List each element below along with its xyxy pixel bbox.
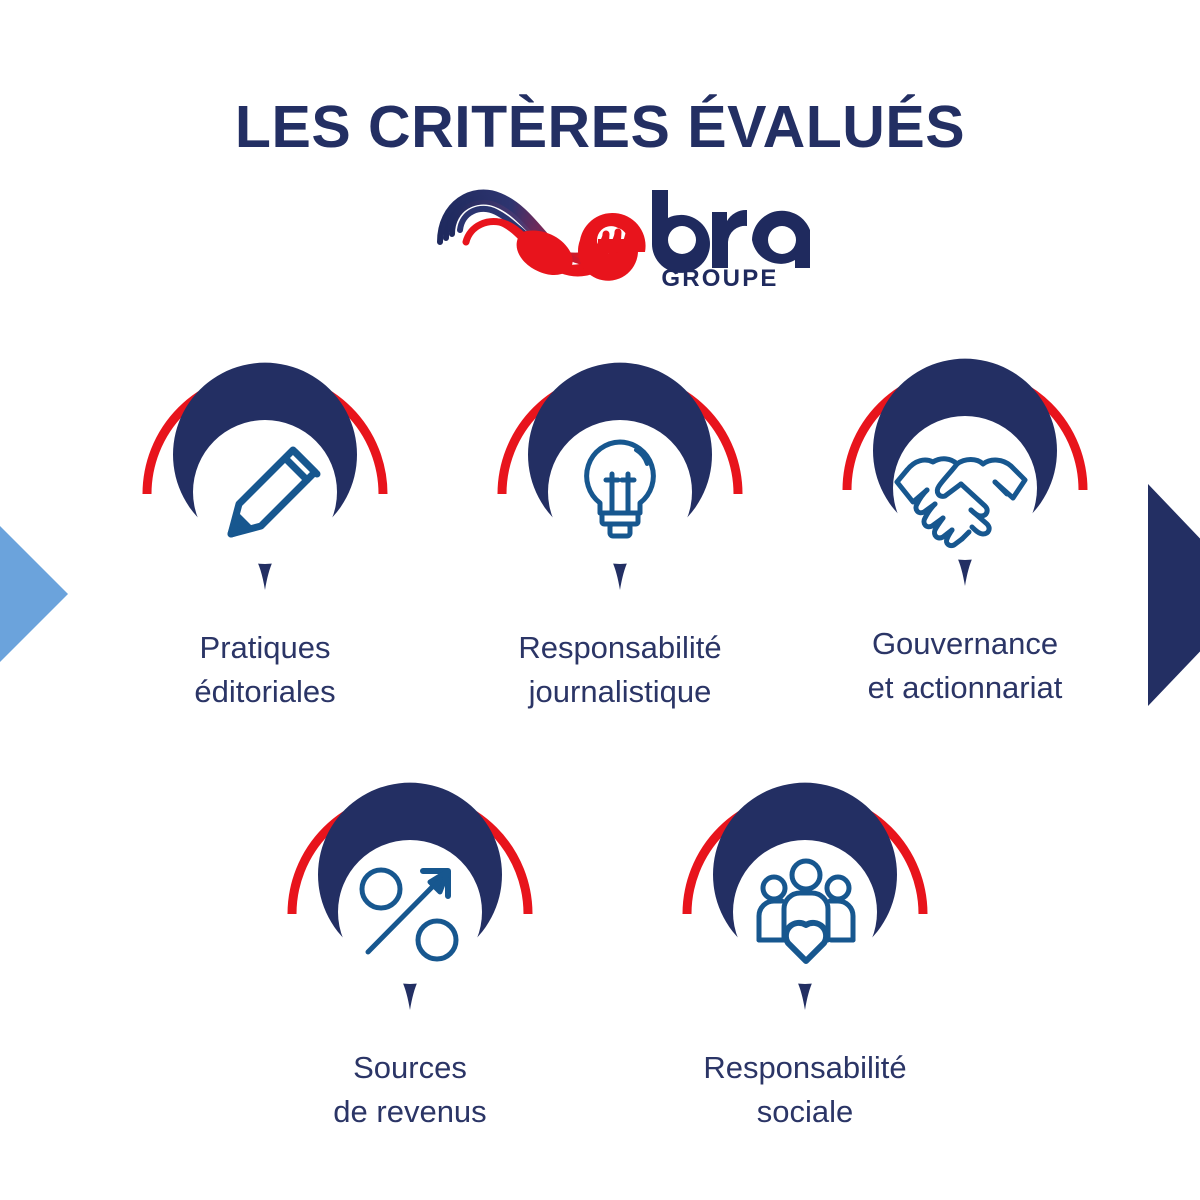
criterion-gouvernance-et-actionnariat[interactable]: Gouvernance et actionnariat bbox=[835, 348, 1095, 710]
criterion-responsabilite-sociale[interactable]: Responsabilité sociale bbox=[675, 772, 935, 1134]
criterion-responsabilite-journalistique[interactable]: Responsabilité journalistique bbox=[490, 352, 750, 714]
pin-body bbox=[713, 783, 897, 1010]
criterion-label: Sources de revenus bbox=[280, 1028, 540, 1134]
criterion-label: Responsabilité sociale bbox=[675, 1028, 935, 1134]
criterion-pratiques-editoriales[interactable]: Pratiques éditoriales bbox=[135, 352, 395, 714]
prev-step-arrow[interactable] bbox=[0, 488, 70, 700]
pin-graphic bbox=[675, 772, 935, 1028]
criterion-label: Gouvernance et actionnariat bbox=[835, 604, 1095, 710]
logo-subtitle: GROUPE bbox=[661, 265, 778, 292]
chevron-right-icon bbox=[1148, 484, 1200, 706]
pin-graphic bbox=[490, 352, 750, 608]
ebra-groupe-logo: GROUPE bbox=[430, 182, 810, 292]
pin-graphic bbox=[135, 352, 395, 608]
criterion-label: Pratiques éditoriales bbox=[135, 608, 395, 714]
chevron-right-icon bbox=[0, 488, 68, 700]
pin-graphic bbox=[835, 348, 1095, 604]
pin-body bbox=[873, 359, 1057, 586]
header: LES CRITÈRES ÉVALUÉS bbox=[0, 0, 1200, 157]
pin-body bbox=[318, 783, 502, 1010]
infographic-page: LES CRITÈRES ÉVALUÉS bbox=[0, 0, 1200, 1200]
next-step-arrow[interactable] bbox=[1148, 484, 1200, 706]
criterion-sources-de-revenus[interactable]: Sources de revenus bbox=[280, 772, 540, 1134]
pin-graphic bbox=[280, 772, 540, 1028]
criterion-label: Responsabilité journalistique bbox=[490, 608, 750, 714]
pin-body bbox=[528, 363, 712, 590]
page-title: LES CRITÈRES ÉVALUÉS bbox=[0, 0, 1200, 157]
